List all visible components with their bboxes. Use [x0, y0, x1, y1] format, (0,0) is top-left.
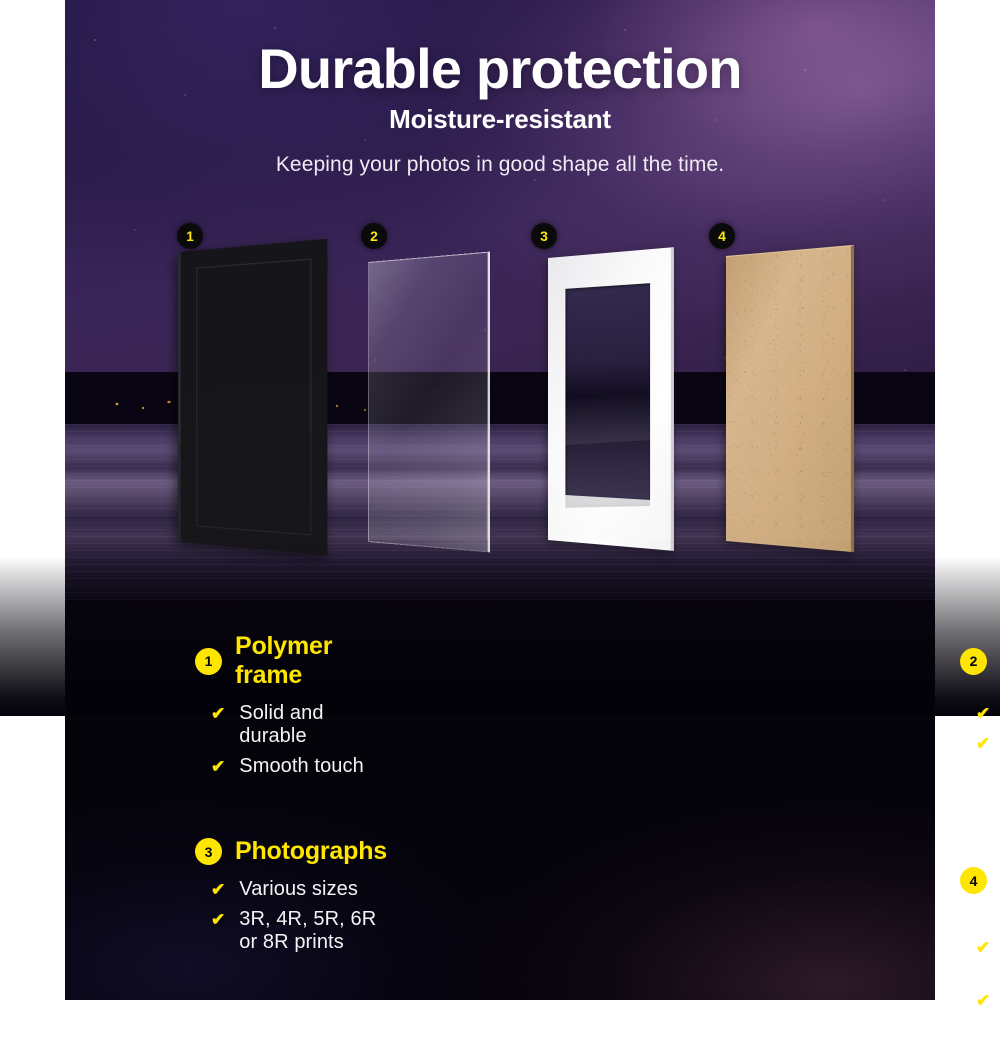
- product-infographic: Durable protection Moisture-resistant Ke…: [0, 0, 1000, 1000]
- feature-polymer-frame: 1 Polymer frame ✔ Solid and durable ✔ Sm…: [0, 632, 387, 785]
- feature-bullets-3: ✔ Various sizes ✔ 3R, 4R, 5R, 6R or 8R p…: [195, 878, 387, 954]
- feature-header: 3 Photographs: [195, 837, 387, 866]
- feature-bullets-1: ✔ Solid and durable ✔ Smooth touch: [195, 702, 387, 778]
- board-reflection: [726, 400, 851, 540]
- check-icon: ✔: [211, 911, 225, 928]
- check-icon: ✔: [976, 735, 990, 752]
- diagram-marker-4: 4: [709, 223, 735, 249]
- bullet-label: 3R, 4R, 5R, 6R or 8R prints: [239, 908, 387, 954]
- list-item: ✔ HD vision: [960, 702, 1000, 725]
- feature-bullets-2: ✔ HD vision ✔ Durable material: [960, 702, 1000, 778]
- list-item: ✔ Various sizes: [195, 878, 387, 901]
- feature-list: 1 Polymer frame ✔ Solid and durable ✔ Sm…: [0, 632, 1000, 1042]
- diagram-marker-3: 3: [531, 223, 557, 249]
- bullet-label: Smooth touch: [239, 755, 364, 778]
- feature-title-1: Polymer frame: [235, 632, 387, 690]
- mat-reflection-cutout: [565, 440, 650, 508]
- page-subtitle: Moisture-resistant: [0, 98, 1000, 135]
- feature-title-3: Photographs: [235, 837, 387, 866]
- check-icon: ✔: [211, 758, 225, 775]
- bullet-label: Solid and durable: [239, 702, 387, 748]
- feature-header: 1 Polymer frame: [195, 632, 387, 690]
- frame-reflection: [178, 379, 324, 542]
- feature-badge-2: 2: [960, 648, 987, 675]
- list-item: ✔ 3R, 4R, 5R, 6R or 8R prints: [195, 908, 387, 954]
- feature-bullets-4: ✔ Moisture-resistant ✔ Environmentally f…: [960, 936, 1000, 1035]
- check-icon: ✔: [976, 992, 990, 1009]
- list-item: ✔ Solid and durable: [195, 702, 387, 748]
- feature-badge-3: 3: [195, 838, 222, 865]
- feature-badge-1: 1: [195, 648, 222, 675]
- diagram-marker-1: 1: [177, 223, 203, 249]
- page-title: Durable protection: [0, 0, 1000, 98]
- feature-photographs: 3 Photographs ✔ Various sizes ✔ 3R, 4R, …: [0, 837, 387, 1042]
- check-icon: ✔: [976, 939, 990, 956]
- check-icon: ✔: [211, 881, 225, 898]
- header: Durable protection Moisture-resistant Ke…: [0, 0, 1000, 177]
- feature-density-board: 4 Solid density board ✔ Moisture-resista…: [387, 837, 1000, 1042]
- list-item: ✔ Environmentally friendly: [960, 989, 1000, 1035]
- check-icon: ✔: [976, 705, 990, 722]
- diagram-marker-2: 2: [361, 223, 387, 249]
- list-item: ✔ Durable material: [960, 732, 1000, 778]
- feature-header: 2 Polystyrene glass: [960, 632, 1000, 690]
- check-icon: ✔: [211, 705, 225, 722]
- feature-polystyrene-glass: 2 Polystyrene glass ✔ HD vision ✔ Durabl…: [387, 632, 1000, 785]
- page-tagline: Keeping your photos in good shape all th…: [0, 135, 1000, 177]
- frame-reflection-aperture: [194, 398, 309, 524]
- bullet-label: Various sizes: [239, 878, 358, 901]
- feature-badge-4: 4: [960, 867, 987, 894]
- glass-reflection: [368, 379, 489, 540]
- list-item: ✔ Smooth touch: [195, 755, 387, 778]
- mat-reflection: [548, 389, 671, 540]
- list-item: ✔ Moisture-resistant: [960, 936, 1000, 982]
- feature-header: 4 Solid density board: [960, 837, 1000, 924]
